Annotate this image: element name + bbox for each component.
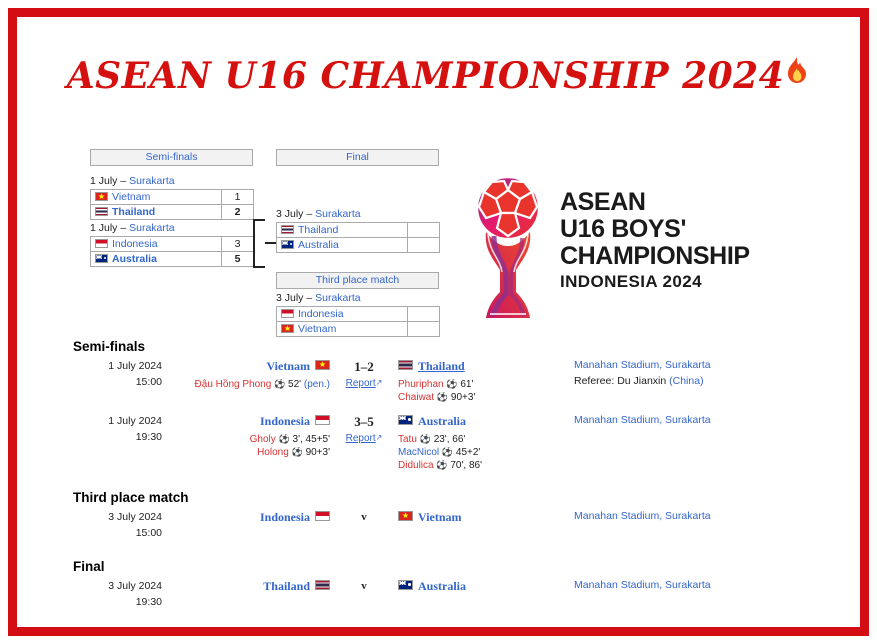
football-icon: ⚽ xyxy=(279,434,290,444)
referee-name: Referee: Du Jianxin xyxy=(574,375,669,387)
flag-australia-icon xyxy=(398,580,413,590)
match-datetime: 3 July 2024 15:00 xyxy=(17,509,170,541)
venue-link[interactable]: Manahan Stadium, Surakarta xyxy=(574,509,860,524)
bracket-team-cell[interactable]: Thailand xyxy=(277,223,408,238)
match-row: 1 July 2024 15:00 Vietnam Đậu Hồng Phong… xyxy=(17,358,860,404)
bracket-venue-final-link[interactable]: Surakarta xyxy=(315,208,361,220)
bracket-team-label: Vietnam xyxy=(112,191,150,203)
scorer-name[interactable]: Holong xyxy=(257,447,289,458)
bracket-team-label: Indonesia xyxy=(112,238,158,250)
score-value: 1–2 xyxy=(334,358,394,375)
match-time: 15:00 xyxy=(17,374,162,390)
section-heading-third-place: Third place match xyxy=(73,490,860,505)
match-score: v xyxy=(334,509,394,526)
away-team-line: Thailand xyxy=(398,358,568,376)
bracket-date-third-text: 3 July – xyxy=(276,292,315,304)
away-scorers: Phuriphan ⚽ 61' Chaiwat ⚽ 90+3' xyxy=(398,378,568,404)
bracket-team-cell[interactable]: Vietnam xyxy=(277,322,408,337)
section-heading-final: Final xyxy=(73,559,860,574)
score-value: v xyxy=(334,509,394,526)
home-team-line: Indonesia xyxy=(170,413,330,431)
match-away-team: Thailand Phuriphan ⚽ 61' Chaiwat ⚽ 90+3' xyxy=(394,358,568,404)
scorer-name[interactable]: Didulica xyxy=(398,460,434,471)
score-value: 3–5 xyxy=(334,413,394,430)
page-root: ASEAN U16 CHAMPIONSHIP 2024 Semi-finals … xyxy=(0,0,877,644)
bracket-team-label: Thailand xyxy=(298,224,338,236)
bracket-match-third: Indonesia Vietnam xyxy=(276,306,440,337)
football-icon: ⚽ xyxy=(436,460,447,470)
bracket-header-final[interactable]: Final xyxy=(276,149,439,166)
bracket-team-cell[interactable]: Vietnam xyxy=(91,190,222,205)
bracket-score-cell: 2 xyxy=(222,205,254,220)
football-icon: ⚽ xyxy=(437,392,448,402)
home-team-name[interactable]: Indonesia xyxy=(260,510,310,524)
report-link[interactable]: Report↗ xyxy=(334,378,394,389)
away-team-name[interactable]: Thailand xyxy=(418,359,465,373)
scorer-entry: Tatu ⚽ 23', 66' xyxy=(398,433,568,446)
scorer-minutes: 45+2' xyxy=(456,447,480,458)
referee-line: Referee: Du Jianxin (China) xyxy=(574,374,860,389)
logo-line-4: INDONESIA 2024 xyxy=(560,273,750,290)
bracket-row: Vietnam xyxy=(277,322,440,337)
match-row: 3 July 2024 19:30 Thailand v Australia M… xyxy=(17,578,860,610)
bracket-team-cell[interactable]: Indonesia xyxy=(91,237,222,252)
scorer-entry: Didulica ⚽ 70', 86' xyxy=(398,459,568,472)
match-home-team: Thailand xyxy=(170,578,334,596)
match-venue-block: Manahan Stadium, Surakarta xyxy=(568,578,860,593)
bracket-row: Thailand 2 xyxy=(91,205,254,220)
match-away-team: Vietnam xyxy=(394,509,568,527)
scorer-name[interactable]: Gholy xyxy=(250,434,276,445)
scorer-minutes: 3', 45+5' xyxy=(293,434,330,445)
bracket-date-sf1: 1 July – Surakarta xyxy=(90,175,175,187)
logo-line-3: CHAMPIONSHIP xyxy=(560,244,750,269)
match-date: 3 July 2024 xyxy=(17,578,162,594)
bracket-row: Vietnam 1 xyxy=(91,190,254,205)
bracket-team-cell[interactable]: Thailand xyxy=(91,205,222,220)
match-date: 3 July 2024 xyxy=(17,509,162,525)
scorer-name[interactable]: Tatu xyxy=(398,434,417,445)
match-row: 1 July 2024 19:30 Indonesia Gholy ⚽ 3', … xyxy=(17,413,860,472)
flag-thailand-icon xyxy=(95,207,108,216)
flag-vietnam-icon xyxy=(281,324,294,333)
match-time: 19:30 xyxy=(17,594,162,610)
bracket-team-label: Australia xyxy=(112,253,157,265)
bracket-team-cell[interactable]: Indonesia xyxy=(277,307,408,322)
football-icon: ⚽ xyxy=(442,447,453,457)
away-team-line: Vietnam xyxy=(398,509,568,527)
match-away-team: Australia xyxy=(394,578,568,596)
flag-thailand-icon xyxy=(398,360,413,370)
match-score: v xyxy=(334,578,394,595)
bracket-row: Australia 5 xyxy=(91,252,254,267)
bracket-team-cell[interactable]: Australia xyxy=(277,238,408,253)
scorer-entry: Holong ⚽ 90+3' xyxy=(170,446,330,459)
scorer-entry: Chaiwat ⚽ 90+3' xyxy=(398,391,568,404)
bracket-header-semifinals[interactable]: Semi-finals xyxy=(90,149,253,166)
report-label: Report xyxy=(346,378,376,389)
bracket-row: Indonesia 3 xyxy=(91,237,254,252)
match-score: 1–2 Report↗ xyxy=(334,358,394,389)
trophy-ball-logo-icon xyxy=(464,174,552,324)
bracket-team-label: Thailand xyxy=(112,206,155,218)
match-time: 15:00 xyxy=(17,525,162,541)
flag-indonesia-icon xyxy=(315,511,330,521)
flag-vietnam-icon xyxy=(315,360,330,370)
flag-thailand-icon xyxy=(281,225,294,234)
bracket-score-cell xyxy=(408,238,440,253)
match-venue-block: Manahan Stadium, Surakarta Referee: Du J… xyxy=(568,358,860,389)
venue-link[interactable]: Manahan Stadium, Surakarta xyxy=(574,358,860,373)
bracket-score-cell xyxy=(408,307,440,322)
bracket-venue-sf2-link[interactable]: Surakarta xyxy=(129,222,175,234)
home-team-line: Indonesia xyxy=(170,509,330,527)
match-home-team: Indonesia xyxy=(170,509,334,527)
bracket-score-cell xyxy=(408,322,440,337)
flag-australia-icon xyxy=(95,254,108,263)
score-value: v xyxy=(334,578,394,595)
bracket-venue-third-link[interactable]: Surakarta xyxy=(315,292,361,304)
scorer-minutes: 70', 86' xyxy=(450,460,482,471)
flag-vietnam-icon xyxy=(398,511,413,521)
scorer-name[interactable]: Đậu Hồng Phong xyxy=(195,379,272,390)
match-home-team: Vietnam Đậu Hồng Phong ⚽ 52' (pen.) xyxy=(170,358,334,391)
flag-indonesia-icon xyxy=(315,415,330,425)
scorer-name[interactable]: Phuriphan xyxy=(398,379,444,390)
referee-country-link[interactable]: (China) xyxy=(669,375,703,387)
away-team-line: Australia xyxy=(398,578,568,596)
bracket-score-cell: 1 xyxy=(222,190,254,205)
bracket-score-cell xyxy=(408,223,440,238)
scorer-entry: Phuriphan ⚽ 61' xyxy=(398,378,568,391)
bracket-team-label: Vietnam xyxy=(298,323,336,335)
flag-australia-icon xyxy=(398,415,413,425)
away-scorers: Tatu ⚽ 23', 66' MacNicol ⚽ 45+2' Didulic… xyxy=(398,433,568,472)
flag-thailand-icon xyxy=(315,580,330,590)
match-datetime: 3 July 2024 19:30 xyxy=(17,578,170,610)
match-home-team: Indonesia Gholy ⚽ 3', 45+5' Holong ⚽ 90+… xyxy=(170,413,334,459)
home-team-name[interactable]: Indonesia xyxy=(260,414,310,428)
bracket-score-cell: 3 xyxy=(222,237,254,252)
bracket-date-sf2-text: 1 July – xyxy=(90,222,129,234)
match-date: 1 July 2024 xyxy=(17,413,162,429)
page-title-text: ASEAN U16 CHAMPIONSHIP 2024 xyxy=(67,55,785,97)
away-team-name[interactable]: Vietnam xyxy=(418,510,462,524)
bracket-team-label: Australia xyxy=(298,239,339,251)
bracket-header-third-place[interactable]: Third place match xyxy=(276,272,439,289)
away-team-name[interactable]: Australia xyxy=(418,579,466,593)
bracket-row: Thailand xyxy=(277,223,440,238)
scorer-minutes: 23', 66' xyxy=(434,434,466,445)
scorer-entry: MacNicol ⚽ 45+2' xyxy=(398,446,568,459)
scorer-minutes: 90+3' xyxy=(451,392,475,403)
match-venue-block: Manahan Stadium, Surakarta xyxy=(568,509,860,524)
section-heading-semifinals: Semi-finals xyxy=(73,339,860,354)
match-list: Semi-finals 1 July 2024 15:00 Vietnam Đậ… xyxy=(17,339,860,614)
football-icon: ⚽ xyxy=(292,447,303,457)
page-title: ASEAN U16 CHAMPIONSHIP 2024 xyxy=(17,55,860,97)
content-canvas: ASEAN U16 CHAMPIONSHIP 2024 Semi-finals … xyxy=(17,17,860,627)
flag-australia-icon xyxy=(281,240,294,249)
match-away-team: Australia Tatu ⚽ 23', 66' MacNicol ⚽ 45+… xyxy=(394,413,568,472)
fire-icon xyxy=(784,56,810,90)
match-score: 3–5 Report↗ xyxy=(334,413,394,444)
away-team-line: Australia xyxy=(398,413,568,431)
home-team-line: Vietnam xyxy=(170,358,330,376)
match-datetime: 1 July 2024 19:30 xyxy=(17,413,170,445)
bracket-date-final: 3 July – Surakarta xyxy=(276,208,361,220)
football-icon: ⚽ xyxy=(446,379,457,389)
football-icon: ⚽ xyxy=(274,379,285,389)
scorer-entry: Đậu Hồng Phong ⚽ 52' (pen.) xyxy=(170,378,330,391)
bracket-score-cell: 5 xyxy=(222,252,254,267)
football-icon: ⚽ xyxy=(420,434,431,444)
venue-link[interactable]: Manahan Stadium, Surakarta xyxy=(574,413,860,428)
report-label: Report xyxy=(346,433,376,444)
scorer-note[interactable]: (pen.) xyxy=(304,379,330,390)
bracket-venue-sf1-link[interactable]: Surakarta xyxy=(129,175,175,187)
flag-indonesia-icon xyxy=(95,239,108,248)
scorer-name[interactable]: MacNicol xyxy=(398,447,439,458)
external-link-icon: ↗ xyxy=(376,378,383,387)
bracket-match-final: Thailand Australia xyxy=(276,222,440,253)
home-scorers: Gholy ⚽ 3', 45+5' Holong ⚽ 90+3' xyxy=(170,433,330,459)
bracket-row: Australia xyxy=(277,238,440,253)
match-datetime: 1 July 2024 15:00 xyxy=(17,358,170,390)
bracket-date-final-text: 3 July – xyxy=(276,208,315,220)
bracket-date-sf2: 1 July – Surakarta xyxy=(90,222,175,234)
logo-line-2: U16 BOYS' xyxy=(560,217,750,242)
flag-vietnam-icon xyxy=(95,192,108,201)
match-row: 3 July 2024 15:00 Indonesia v Vietnam Ma… xyxy=(17,509,860,541)
venue-link[interactable]: Manahan Stadium, Surakarta xyxy=(574,578,860,593)
bracket-date-third: 3 July – Surakarta xyxy=(276,292,361,304)
report-link[interactable]: Report↗ xyxy=(334,433,394,444)
match-date: 1 July 2024 xyxy=(17,358,162,374)
scorer-minutes: 52' xyxy=(288,379,301,390)
match-time: 19:30 xyxy=(17,429,162,445)
flag-indonesia-icon xyxy=(281,309,294,318)
home-team-name[interactable]: Thailand xyxy=(263,579,310,593)
bracket-match-sf1: Vietnam 1 Thailand 2 xyxy=(90,189,254,220)
scorer-name[interactable]: Chaiwat xyxy=(398,392,434,403)
logo-wordmark: ASEAN U16 BOYS' CHAMPIONSHIP INDONESIA 2… xyxy=(560,190,750,290)
bracket-team-label: Indonesia xyxy=(298,308,344,320)
away-team-name[interactable]: Australia xyxy=(418,414,466,428)
scorer-minutes: 90+3' xyxy=(306,447,330,458)
match-venue-block: Manahan Stadium, Surakarta xyxy=(568,413,860,428)
bracket-row: Indonesia xyxy=(277,307,440,322)
home-team-line: Thailand xyxy=(170,578,330,596)
home-scorers: Đậu Hồng Phong ⚽ 52' (pen.) xyxy=(170,378,330,391)
external-link-icon: ↗ xyxy=(376,433,383,442)
scorer-entry: Gholy ⚽ 3', 45+5' xyxy=(170,433,330,446)
logo-line-1: ASEAN xyxy=(560,190,750,215)
bracket-match-sf2: Indonesia 3 Australia 5 xyxy=(90,236,254,267)
tournament-logo: ASEAN U16 BOYS' CHAMPIONSHIP INDONESIA 2… xyxy=(464,174,736,329)
bracket-team-cell[interactable]: Australia xyxy=(91,252,222,267)
home-team-name[interactable]: Vietnam xyxy=(266,359,310,373)
red-border-frame: ASEAN U16 CHAMPIONSHIP 2024 Semi-finals … xyxy=(8,8,869,636)
scorer-minutes: 61' xyxy=(460,379,473,390)
bracket-date-sf1-text: 1 July – xyxy=(90,175,129,187)
